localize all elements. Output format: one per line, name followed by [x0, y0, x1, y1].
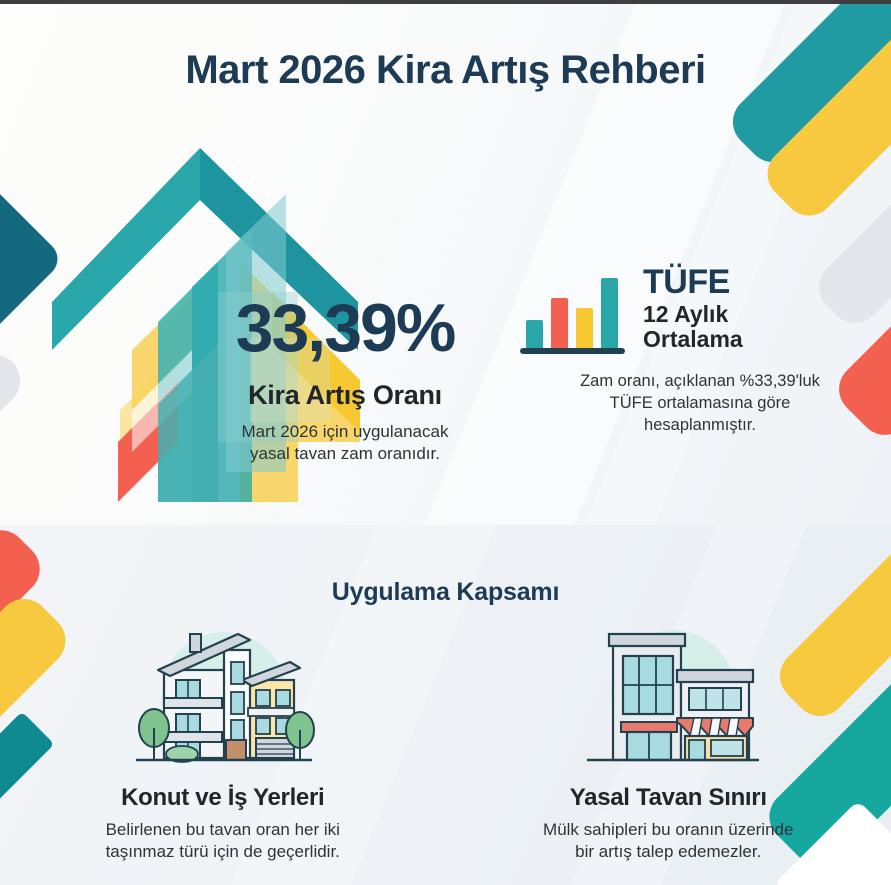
scope-card-residential-line2: taşınmaz türü için de geçerlidir. — [106, 842, 340, 861]
tufe-bar-chart — [520, 262, 625, 357]
scope-card-residential-line1: Belirlenen bu tavan oran her iki — [106, 820, 340, 839]
scope-cards: Konut ve İş Yerleri Belirlenen bu tavan … — [0, 618, 891, 864]
rent-increase-desc-line1: Mart 2026 için uygulanacak — [242, 422, 449, 441]
tufe-note-line2: TÜFE ortalamasına göre — [610, 394, 791, 412]
scope-card-commercial-line1: Mülk sahipleri bu oranın üzerinde — [543, 820, 793, 839]
rent-increase-percent: 33,39% — [180, 294, 510, 362]
chart-baseline — [520, 348, 625, 354]
chart-bar-4 — [601, 278, 618, 348]
scope-card-commercial: Yasal Tavan Sınırı Mülk sahipleri bu ora… — [446, 618, 891, 864]
scope-card-residential-description: Belirlenen bu tavan oran her iki taşınma… — [106, 819, 340, 864]
scope-card-residential: Konut ve İş Yerleri Belirlenen bu tavan … — [0, 618, 446, 864]
commercial-storefront-icon — [573, 618, 763, 778]
rent-increase-heading: Kira Artış Oranı — [180, 380, 510, 411]
scope-card-commercial-heading: Yasal Tavan Sınırı — [570, 784, 767, 812]
scope-card-commercial-description: Mülk sahipleri bu oranın üzerinde bir ar… — [543, 819, 793, 864]
chart-bars — [526, 268, 619, 348]
scope-card-commercial-line2: bir artış talep edemezler. — [575, 842, 761, 861]
infographic-root: Mart 2026 Kira Artış Rehberi — [0, 0, 891, 885]
tufe-subtitle-line2: Ortalama — [643, 327, 743, 353]
tufe-subtitle-line1: 12 Aylık — [643, 302, 743, 328]
chart-bar-1 — [526, 320, 543, 348]
tufe-block: TÜFE 12 Aylık Ortalama Zam oranı, açıkla… — [520, 262, 880, 436]
scope-section-title: Uygulama Kapsamı — [0, 578, 891, 607]
chart-bar-2 — [551, 298, 568, 348]
rent-increase-description: Mart 2026 için uygulanacak yasal tavan z… — [180, 421, 510, 465]
tufe-note-line3: hesaplanmıştır. — [644, 416, 756, 434]
tufe-text: TÜFE 12 Aylık Ortalama — [643, 266, 743, 357]
tufe-note-line1: Zam oranı, açıklanan %33,39'luk — [580, 372, 820, 390]
top-panel: Mart 2026 Kira Artış Rehberi — [0, 4, 891, 525]
chart-bar-3 — [576, 308, 593, 348]
tufe-title: TÜFE — [643, 266, 743, 299]
rent-increase-desc-line2: yasal tavan zam oranıdır. — [250, 444, 440, 463]
deco-bar-gray-left — [0, 344, 31, 494]
top-edge-bar — [0, 0, 891, 4]
page-title: Mart 2026 Kira Artış Rehberi — [0, 48, 891, 93]
scope-card-residential-heading: Konut ve İş Yerleri — [121, 784, 324, 812]
residential-building-icon — [128, 618, 318, 778]
rent-increase-stat: 33,39% Kira Artış Oranı Mart 2026 için u… — [180, 294, 510, 465]
tufe-note: Zam oranı, açıklanan %33,39'luk TÜFE ort… — [520, 371, 880, 436]
